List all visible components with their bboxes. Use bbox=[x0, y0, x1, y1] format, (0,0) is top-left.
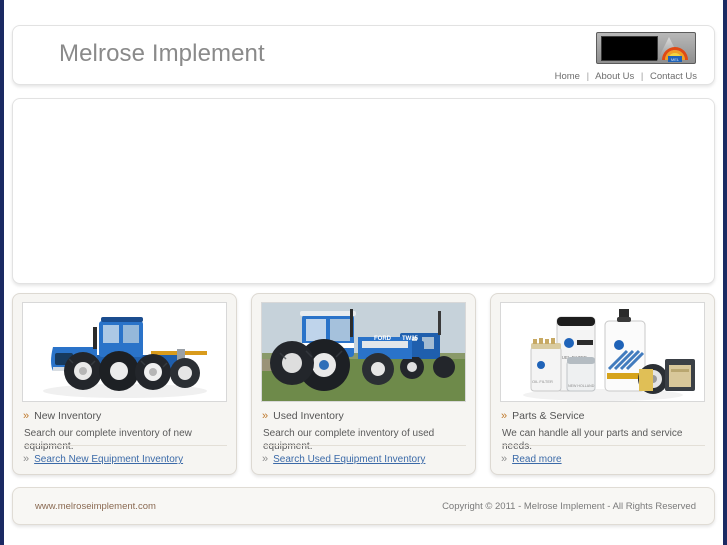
card-divider bbox=[24, 445, 227, 446]
feature-card-heading-label: Used Inventory bbox=[273, 410, 344, 422]
footer-copyright-text: Copyright © 2011 - Melrose Implement - A… bbox=[442, 501, 696, 512]
left-edge-strip bbox=[0, 0, 4, 545]
feature-card-used-inventory[interactable]: FORD TW35 bbox=[251, 293, 476, 475]
svg-text:MEL: MEL bbox=[671, 57, 680, 62]
card-divider bbox=[502, 445, 705, 446]
read-more-link[interactable]: Read more bbox=[512, 454, 561, 465]
nav-separator: | bbox=[583, 71, 593, 82]
feature-card-new-inventory[interactable]: »New Inventory Search our complete inven… bbox=[12, 293, 237, 475]
chevron-double-right-icon: » bbox=[23, 410, 34, 422]
nav-separator: | bbox=[637, 71, 647, 82]
card-divider bbox=[263, 445, 466, 446]
feature-card-heading: »Used Inventory bbox=[262, 410, 344, 422]
feature-cards-row: »New Inventory Search our complete inven… bbox=[12, 293, 715, 475]
logo-dark-panel bbox=[601, 36, 658, 61]
feature-card-description: We can handle all your parts and service… bbox=[502, 427, 708, 453]
feature-card-link-row: »Read more bbox=[501, 453, 562, 465]
feature-card-link-row: »Search Used Equipment Inventory bbox=[262, 453, 425, 465]
site-footer: www.melroseimplement.com Copyright © 201… bbox=[12, 487, 715, 525]
hero-slider-region[interactable] bbox=[12, 98, 715, 284]
feature-card-heading: »New Inventory bbox=[23, 410, 101, 422]
nav-item-home[interactable]: Home bbox=[555, 71, 580, 82]
feature-card-heading: »Parts & Service bbox=[501, 410, 584, 422]
right-edge-strip bbox=[723, 0, 727, 545]
company-logo-graphic[interactable]: MEL bbox=[596, 32, 696, 64]
feature-card-heading-label: New Inventory bbox=[34, 410, 101, 422]
chevron-double-right-icon: » bbox=[23, 453, 34, 465]
feature-card-description: Search our complete inventory of new equ… bbox=[24, 427, 230, 453]
feature-card-parts-service[interactable]: FUEL FILTER bbox=[490, 293, 715, 475]
chevron-double-right-icon: » bbox=[262, 453, 273, 465]
nav-item-about-us[interactable]: About Us bbox=[595, 71, 634, 82]
main-navigation: Home | About Us | Contact Us bbox=[555, 71, 697, 82]
svg-text:TW35: TW35 bbox=[402, 336, 419, 342]
footer-website-link[interactable]: www.melroseimplement.com bbox=[35, 501, 156, 512]
page-title: Melrose Implement bbox=[59, 40, 265, 68]
blue-ford-tractor-field-photo: FORD TW35 bbox=[261, 302, 466, 402]
feature-card-description: Search our complete inventory of used eq… bbox=[263, 427, 469, 453]
chevron-double-right-icon: » bbox=[501, 453, 512, 465]
oil-filters-parts-photo: FUEL FILTER bbox=[500, 302, 705, 402]
blue-tractor-new-photo bbox=[22, 302, 227, 402]
chevron-double-right-icon: » bbox=[501, 410, 512, 422]
page-container: Melrose Implement MEL bbox=[4, 0, 723, 545]
feature-card-link-row: »Search New Equipment Inventory bbox=[23, 453, 183, 465]
svg-text:OIL FILTER: OIL FILTER bbox=[532, 379, 553, 384]
svg-text:NEW HOLLAND: NEW HOLLAND bbox=[568, 384, 595, 388]
feature-card-heading-label: Parts & Service bbox=[512, 410, 584, 422]
search-new-equipment-inventory-link[interactable]: Search New Equipment Inventory bbox=[34, 454, 183, 465]
nav-item-contact-us[interactable]: Contact Us bbox=[650, 71, 697, 82]
mountain-rainbow-icon: MEL bbox=[655, 34, 693, 64]
svg-text:FORD: FORD bbox=[374, 336, 392, 342]
site-header: Melrose Implement MEL bbox=[12, 25, 715, 85]
chevron-double-right-icon: » bbox=[262, 410, 273, 422]
search-used-equipment-inventory-link[interactable]: Search Used Equipment Inventory bbox=[273, 454, 425, 465]
